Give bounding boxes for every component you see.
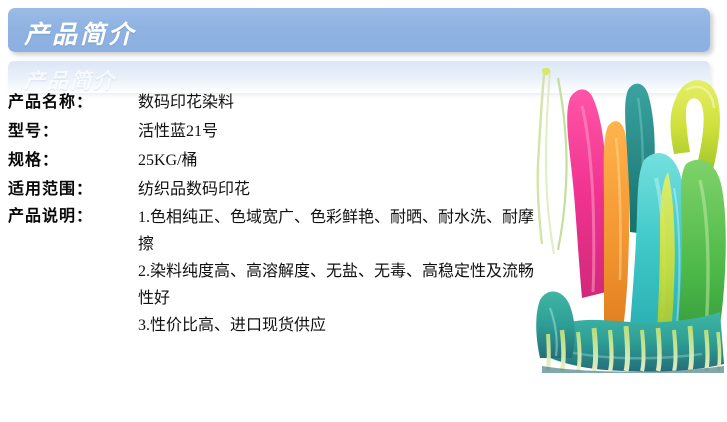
paint-splash-icon (524, 68, 727, 373)
spec-row-model: 型号： 活性蓝21号 (8, 117, 528, 146)
spec-label: 适用范围： (8, 175, 138, 199)
description-label: 产品说明： (8, 204, 138, 230)
spec-label: 规格： (8, 146, 138, 170)
spec-row-application: 适用范围： 纺织品数码印花 (8, 175, 528, 204)
spec-value: 25KG/桶 (138, 146, 198, 170)
spec-value: 数码印花染料 (138, 88, 234, 112)
spec-label: 产品名称： (8, 88, 138, 112)
product-description-block: 产品说明： 1.色相纯正、色域宽广、色彩鲜艳、耐晒、耐水洗、耐摩擦 2.染料纯度… (8, 204, 538, 339)
spec-row-packaging: 规格： 25KG/桶 (8, 146, 528, 175)
specification-list: 产品名称： 数码印花染料 型号： 活性蓝21号 规格： 25KG/桶 适用范围：… (8, 88, 528, 204)
spec-label: 型号： (8, 117, 138, 141)
paint-splash-image (524, 68, 727, 373)
description-item: 3.性价比高、进口现货供应 (138, 312, 538, 339)
section-header-bar: 产品简介 (8, 8, 710, 52)
spec-row-product-name: 产品名称： 数码印花染料 (8, 88, 528, 117)
description-item: 1.色相纯正、色域宽广、色彩鲜艳、耐晒、耐水洗、耐摩擦 (138, 204, 538, 258)
product-intro-page: 产品简介 产品简介 产品名称： 数码印花染料 型号： 活性蓝21号 规格： 25… (0, 0, 727, 422)
spec-value: 活性蓝21号 (138, 117, 218, 141)
page-title: 产品简介 (24, 15, 136, 51)
description-items: 1.色相纯正、色域宽广、色彩鲜艳、耐晒、耐水洗、耐摩擦 2.染料纯度高、高溶解度… (138, 204, 538, 339)
spec-value: 纺织品数码印花 (138, 175, 250, 199)
description-item: 2.染料纯度高、高溶解度、无盐、无毒、高稳定性及流畅性好 (138, 258, 538, 312)
